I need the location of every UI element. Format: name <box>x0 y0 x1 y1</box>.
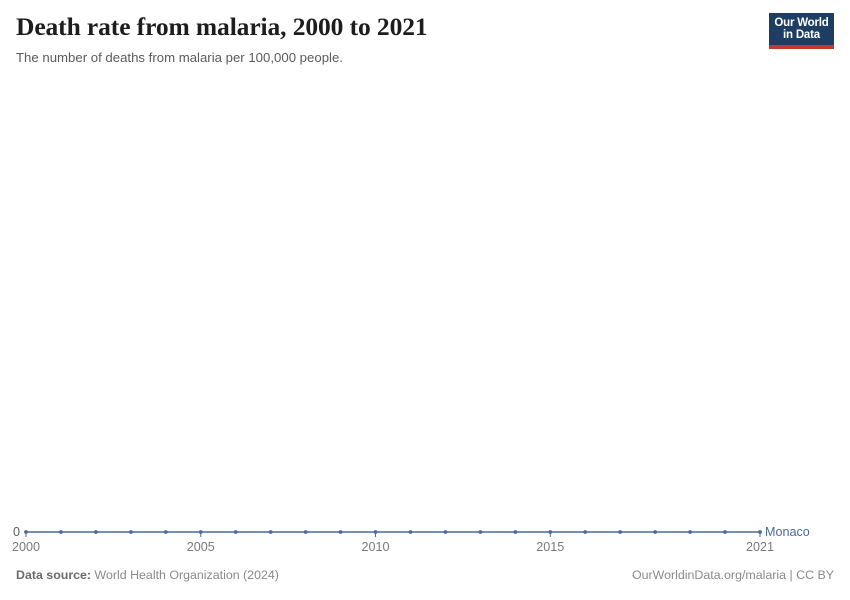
data-source-value: World Health Organization (2024) <box>95 568 279 582</box>
data-point <box>444 530 448 534</box>
data-point <box>269 530 273 534</box>
data-point <box>59 530 63 534</box>
data-point <box>164 530 168 534</box>
chart-subtitle: The number of deaths from malaria per 10… <box>16 49 834 66</box>
x-axis-tick-label-2000: 2000 <box>12 540 40 554</box>
data-point <box>723 530 727 534</box>
chart-footer: Data source: World Health Organization (… <box>16 568 834 584</box>
data-point <box>688 530 692 534</box>
attribution-link[interactable]: OurWorldinData.org/malaria | CC BY <box>632 568 834 582</box>
data-point <box>409 530 413 534</box>
data-point <box>758 530 762 534</box>
data-point <box>374 530 378 534</box>
chart-plot-area[interactable]: 20002005201020152021 Monaco 0 <box>0 86 850 556</box>
axis-labels-group: 0 <box>13 525 20 539</box>
our-world-in-data-logo[interactable]: Our World in Data <box>769 13 834 49</box>
data-point <box>199 530 203 534</box>
x-axis-tick-label-2021: 2021 <box>746 540 774 554</box>
page-title: Death rate from malaria, 2000 to 2021 <box>16 12 834 42</box>
data-point <box>478 530 482 534</box>
data-source: Data source: World Health Organization (… <box>16 568 279 582</box>
series-end-label-monaco: Monaco <box>765 525 810 539</box>
line-chart-svg: 20002005201020152021 Monaco 0 <box>0 86 850 556</box>
x-axis-tick-label-2010: 2010 <box>362 540 390 554</box>
data-point <box>548 530 552 534</box>
data-point <box>24 530 28 534</box>
data-point <box>339 530 343 534</box>
data-point <box>94 530 98 534</box>
logo-line-2: in Data <box>783 29 820 41</box>
x-axis-group: 20002005201020152021 <box>12 532 774 554</box>
chart-header: Death rate from malaria, 2000 to 2021 Th… <box>16 12 834 66</box>
data-point <box>513 530 517 534</box>
series-group: Monaco <box>24 525 810 539</box>
data-point <box>653 530 657 534</box>
data-point <box>129 530 133 534</box>
data-source-label: Data source: <box>16 568 91 582</box>
data-point <box>304 530 308 534</box>
y-axis-tick-label-0: 0 <box>13 525 20 539</box>
x-axis-tick-label-2015: 2015 <box>536 540 564 554</box>
x-axis-tick-label-2005: 2005 <box>187 540 215 554</box>
data-point <box>618 530 622 534</box>
data-point <box>583 530 587 534</box>
logo-line-1: Our World <box>774 17 828 29</box>
data-point <box>234 530 238 534</box>
